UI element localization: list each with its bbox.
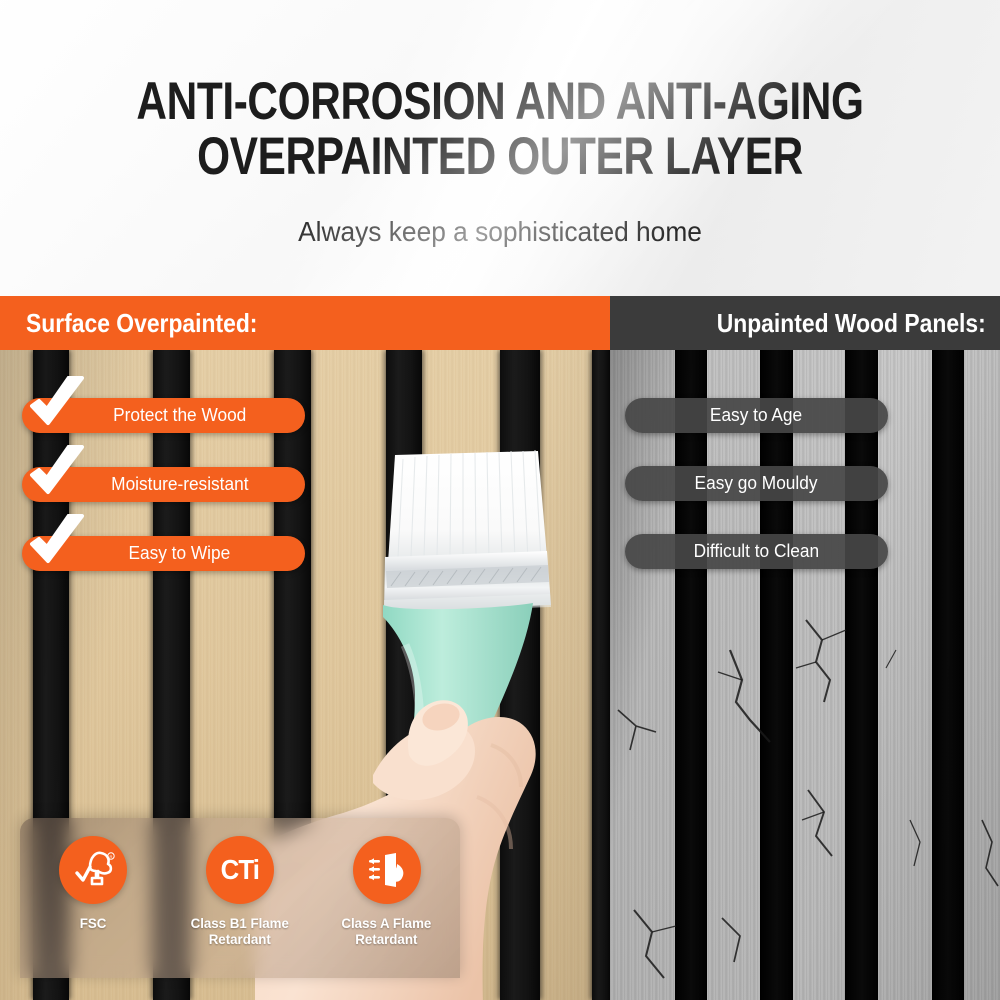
svg-text:R: R: [110, 854, 113, 859]
right-panel-grey-slats: Easy to Age Easy go Mouldy Difficult to …: [610, 350, 1000, 1000]
feature-pill-label: Protect the Wood: [81, 405, 247, 426]
check-icon: [26, 376, 88, 436]
headline-line-2: OVERPAINTED OUTER LAYER: [100, 129, 900, 184]
product-infographic: ANTI-CORROSION AND ANTI-AGING OVERPAINTE…: [0, 0, 1000, 1000]
right-column-header: Unpainted Wood Panels:: [610, 296, 1000, 350]
certification-label: Class A Flame Retardant: [342, 915, 432, 947]
comparison-header-bar: Surface Overpainted: Unpainted Wood Pane…: [0, 296, 1000, 350]
hero-section: ANTI-CORROSION AND ANTI-AGING OVERPAINTE…: [0, 0, 1000, 296]
feature-pill[interactable]: Moisture-resistant: [22, 467, 305, 502]
certification-strip: R FSC CTi Class B1 Flame Retardant: [20, 818, 460, 978]
certification-label: Class B1 Flame Retardant: [191, 915, 289, 947]
left-column-header: Surface Overpainted:: [0, 296, 610, 350]
drawback-pill[interactable]: Easy to Age: [625, 398, 888, 433]
page-title: ANTI-CORROSION AND ANTI-AGING OVERPAINTE…: [100, 74, 900, 184]
certification-badge-cti: CTi Class B1 Flame Retardant: [175, 836, 305, 947]
headline-line-1: ANTI-CORROSION AND ANTI-AGING: [136, 72, 863, 131]
page-subtitle: Always keep a sophisticated home: [30, 216, 970, 248]
feature-pill[interactable]: Easy to Wipe: [22, 536, 305, 571]
drawback-pill-label: Easy to Age: [710, 405, 802, 426]
left-column-header-label: Surface Overpainted:: [26, 308, 257, 339]
certification-label: FSC: [80, 915, 107, 931]
cti-text-icon: CTi: [221, 854, 259, 886]
right-feature-list: Easy to Age Easy go Mouldy Difficult to …: [610, 350, 1000, 1000]
feature-pill[interactable]: Protect the Wood: [22, 398, 305, 433]
fsc-tree-icon: R: [70, 847, 116, 893]
right-column-header-label: Unpainted Wood Panels:: [717, 308, 986, 339]
feature-pill-label: Moisture-resistant: [79, 474, 249, 495]
fsc-badge-circle: R: [59, 836, 127, 904]
drawback-pill-label: Easy go Mouldy: [695, 473, 818, 494]
drawback-pill-label: Difficult to Clean: [694, 541, 820, 562]
flame-badge-circle: [353, 836, 421, 904]
drawback-pill[interactable]: Difficult to Clean: [625, 534, 888, 569]
feature-pill-label: Easy to Wipe: [96, 543, 230, 564]
check-icon: [26, 514, 88, 574]
cti-badge-circle: CTi: [206, 836, 274, 904]
drawback-pill[interactable]: Easy go Mouldy: [625, 466, 888, 501]
certification-badge-fsc: R FSC: [28, 836, 158, 931]
certification-badge-flame: Class A Flame Retardant: [322, 836, 452, 947]
flame-door-icon: [365, 848, 409, 892]
